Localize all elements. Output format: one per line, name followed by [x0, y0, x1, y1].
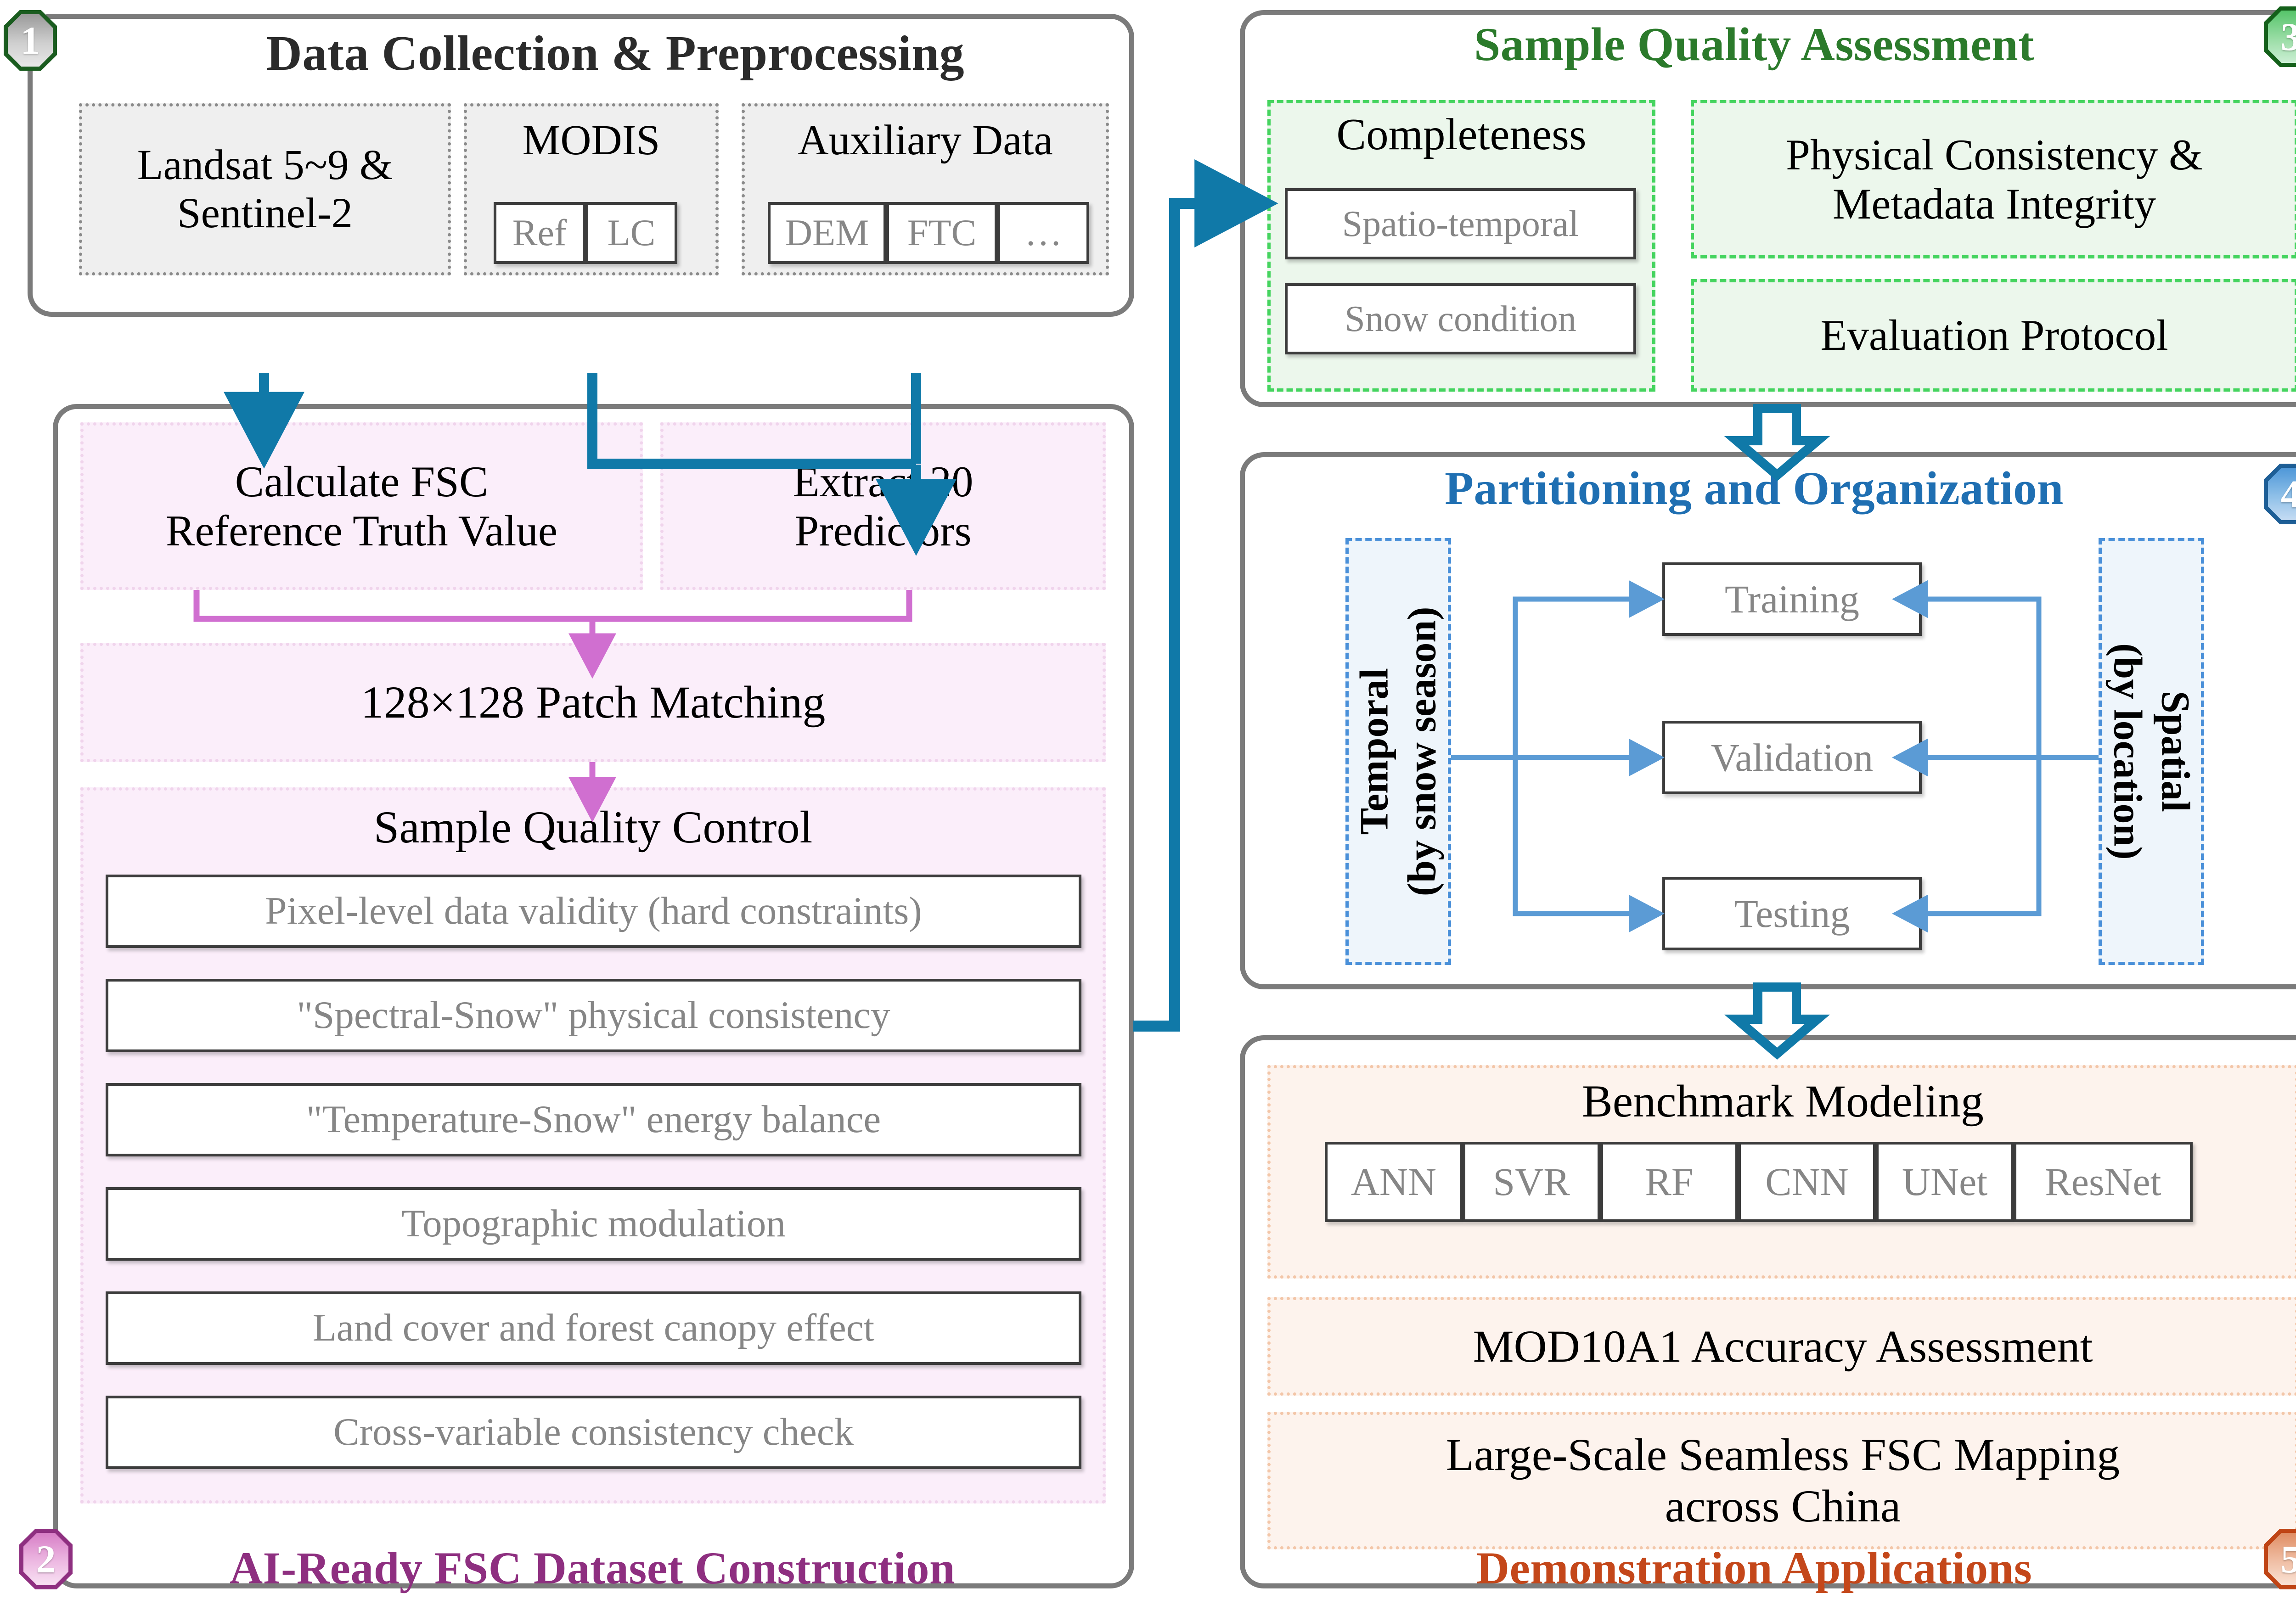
- panel4-title: Partitioning and Organization: [1267, 461, 2241, 516]
- chip-modis-ref: Ref: [494, 202, 585, 264]
- box-physical-consistency: Physical Consistency &Metadata Integrity: [1691, 100, 2296, 258]
- qc-check-4: Land cover and forest canopy effect: [106, 1291, 1081, 1365]
- box-fsc-mapping: Large-Scale Seamless FSC Mappingacross C…: [1267, 1412, 2296, 1549]
- model-ann: ANN: [1325, 1142, 1463, 1222]
- box-mod10a1-accuracy: MOD10A1 Accuracy Assessment: [1267, 1297, 2296, 1396]
- qc-check-3: Topographic modulation: [106, 1187, 1081, 1261]
- panel1-title: Data Collection & Preprocessing: [142, 25, 1088, 82]
- arrow-panel2-to-panel3: [1133, 203, 1208, 1026]
- chip-aux-ftc: FTC: [886, 202, 997, 264]
- split-training: Training: [1662, 562, 1922, 636]
- box-evaluation-protocol: Evaluation Protocol: [1691, 279, 2296, 392]
- qc-check-5: Cross-variable consistency check: [106, 1396, 1081, 1469]
- box-calculate-fsc: Calculate FSCReference Truth Value: [80, 422, 643, 590]
- axis-spatial: Spatial(by location): [2099, 538, 2204, 965]
- axis-temporal: Temporal(by snow season): [1345, 538, 1451, 965]
- source-landsat-sentinel: Landsat 5~9 &Sentinel-2: [79, 103, 451, 275]
- split-validation: Validation: [1662, 721, 1922, 794]
- badge-2: 2: [19, 1529, 73, 1589]
- split-testing: Testing: [1662, 877, 1922, 950]
- chip-aux-dem: DEM: [768, 202, 886, 264]
- panel2-footer-title: AI-Ready FSC Dataset Construction: [83, 1542, 1102, 1594]
- panel5-footer-title: Demonstration Applications: [1267, 1542, 2241, 1594]
- model-resnet: ResNet: [2014, 1142, 2193, 1222]
- model-cnn: CNN: [1738, 1142, 1876, 1222]
- source-modis-label: MODIS: [523, 117, 660, 164]
- chip-spatio-temporal: Spatio-temporal: [1285, 188, 1636, 259]
- qc-check-1: "Spectral-Snow" physical consistency: [106, 979, 1081, 1052]
- source-auxiliary-label: Auxiliary Data: [798, 117, 1052, 164]
- box-patch-matching: 128×128 Patch Matching: [80, 643, 1106, 762]
- flowchart-canvas: 1 Data Collection & Preprocessing Landsa…: [0, 0, 2296, 1616]
- model-unet: UNet: [1876, 1142, 2014, 1222]
- panel3-title: Sample Quality Assessment: [1267, 17, 2241, 72]
- qc-check-0: Pixel-level data validity (hard constrai…: [106, 875, 1081, 948]
- completeness-label: Completeness: [1336, 110, 1586, 160]
- chip-modis-lc: LC: [585, 202, 677, 264]
- model-svr: SVR: [1463, 1142, 1600, 1222]
- box-extract-predictors: Extract 20Predictors: [660, 422, 1106, 590]
- chip-snow-condition: Snow condition: [1285, 283, 1636, 354]
- quality-control-title: Sample Quality Control: [374, 802, 812, 853]
- badge-1: 1: [4, 10, 57, 71]
- qc-check-2: "Temperature-Snow" energy balance: [106, 1083, 1081, 1156]
- benchmark-title: Benchmark Modeling: [1582, 1076, 1984, 1127]
- chip-aux-more: …: [997, 202, 1089, 264]
- model-rf: RF: [1600, 1142, 1738, 1222]
